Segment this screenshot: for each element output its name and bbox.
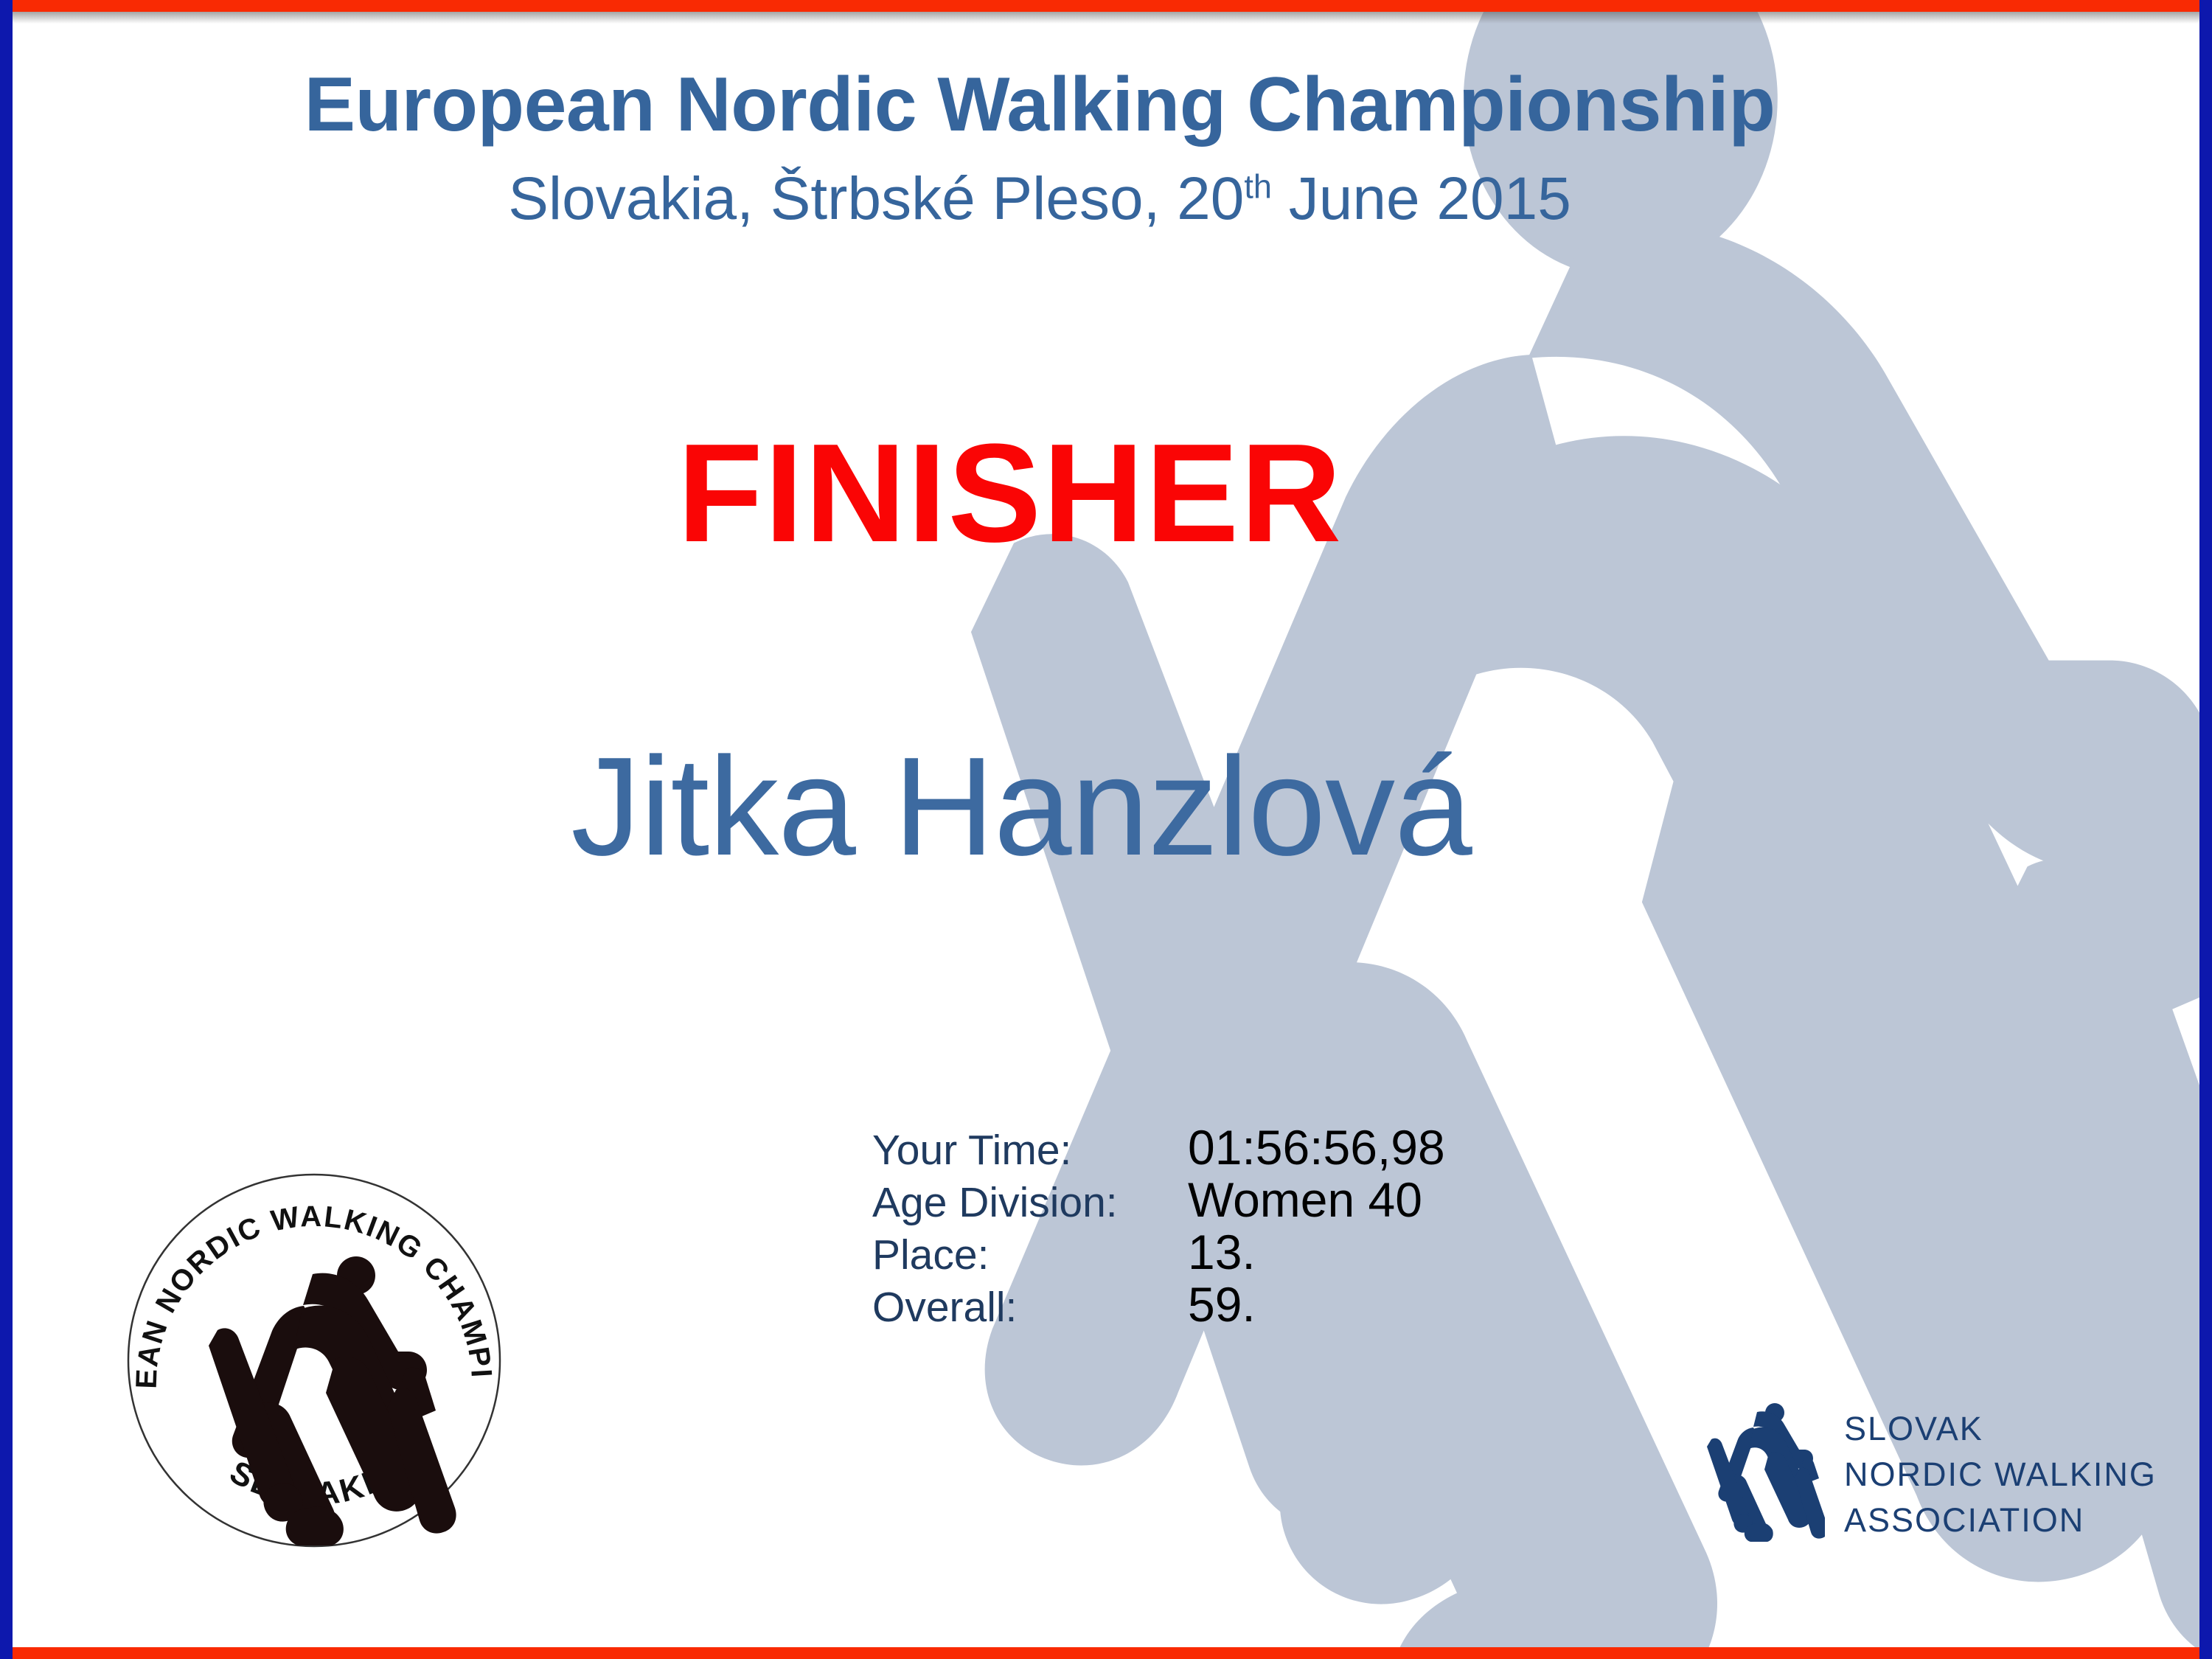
event-location-date: Slovakia, Štrbské Pleso, 20th June 2015 [0,164,2212,234]
border-bar-bottom [13,1647,2199,1659]
association-name: SLOVAK NORDIC WALKING ASSOCIATION [1844,1406,2157,1543]
result-row-age-division: Age Division: Women 40 [872,1172,1445,1224]
certificate-page: European Nordic Walking Championship Slo… [0,0,2212,1659]
date-ordinal-suffix: th [1244,168,1272,206]
association-line-1: SLOVAK [1844,1406,2157,1452]
result-value: 59. [1188,1276,1256,1332]
result-value: 13. [1188,1224,1256,1280]
nordic-walker-icon [1696,1394,1825,1556]
event-location-date-prefix: Slovakia, Štrbské Pleso, 20 [508,165,1244,232]
result-value: 01:56:56,98 [1188,1119,1445,1175]
result-row-overall: Overall: 59. [872,1276,1445,1329]
border-stripe-left [0,0,13,1659]
result-label: Age Division: [872,1178,1188,1227]
inner-top-shadow [13,12,2199,24]
result-label: Place: [872,1231,1188,1279]
association-line-3: ASSOCIATION [1844,1498,2157,1543]
championship-logo: EUROPEAN NORDIC WALKING CHAMPIONSHIP SLO… [122,1169,506,1552]
page-title: European Nordic Walking Championship [0,65,2212,145]
association-logo: SLOVAK NORDIC WALKING ASSOCIATION [1696,1390,2138,1559]
border-bar-top [13,0,2199,12]
result-row-place: Place: 13. [872,1224,1445,1276]
result-label: Your Time: [872,1126,1188,1175]
result-label: Overall: [872,1283,1188,1332]
status-badge: FINISHER [0,413,2212,574]
border-stripe-right [2199,0,2212,1659]
result-value: Women 40 [1188,1172,1422,1228]
association-line-2: NORDIC WALKING [1844,1452,2157,1498]
athlete-name: Jitka Hanzlová [0,726,2212,887]
event-location-date-suffix: June 2015 [1272,165,1571,232]
certificate-heading: European Nordic Walking Championship Slo… [0,65,2212,234]
result-row-your-time: Your Time: 01:56:56,98 [872,1119,1445,1172]
results-block: Your Time: 01:56:56,98 Age Division: Wom… [872,1119,1445,1329]
